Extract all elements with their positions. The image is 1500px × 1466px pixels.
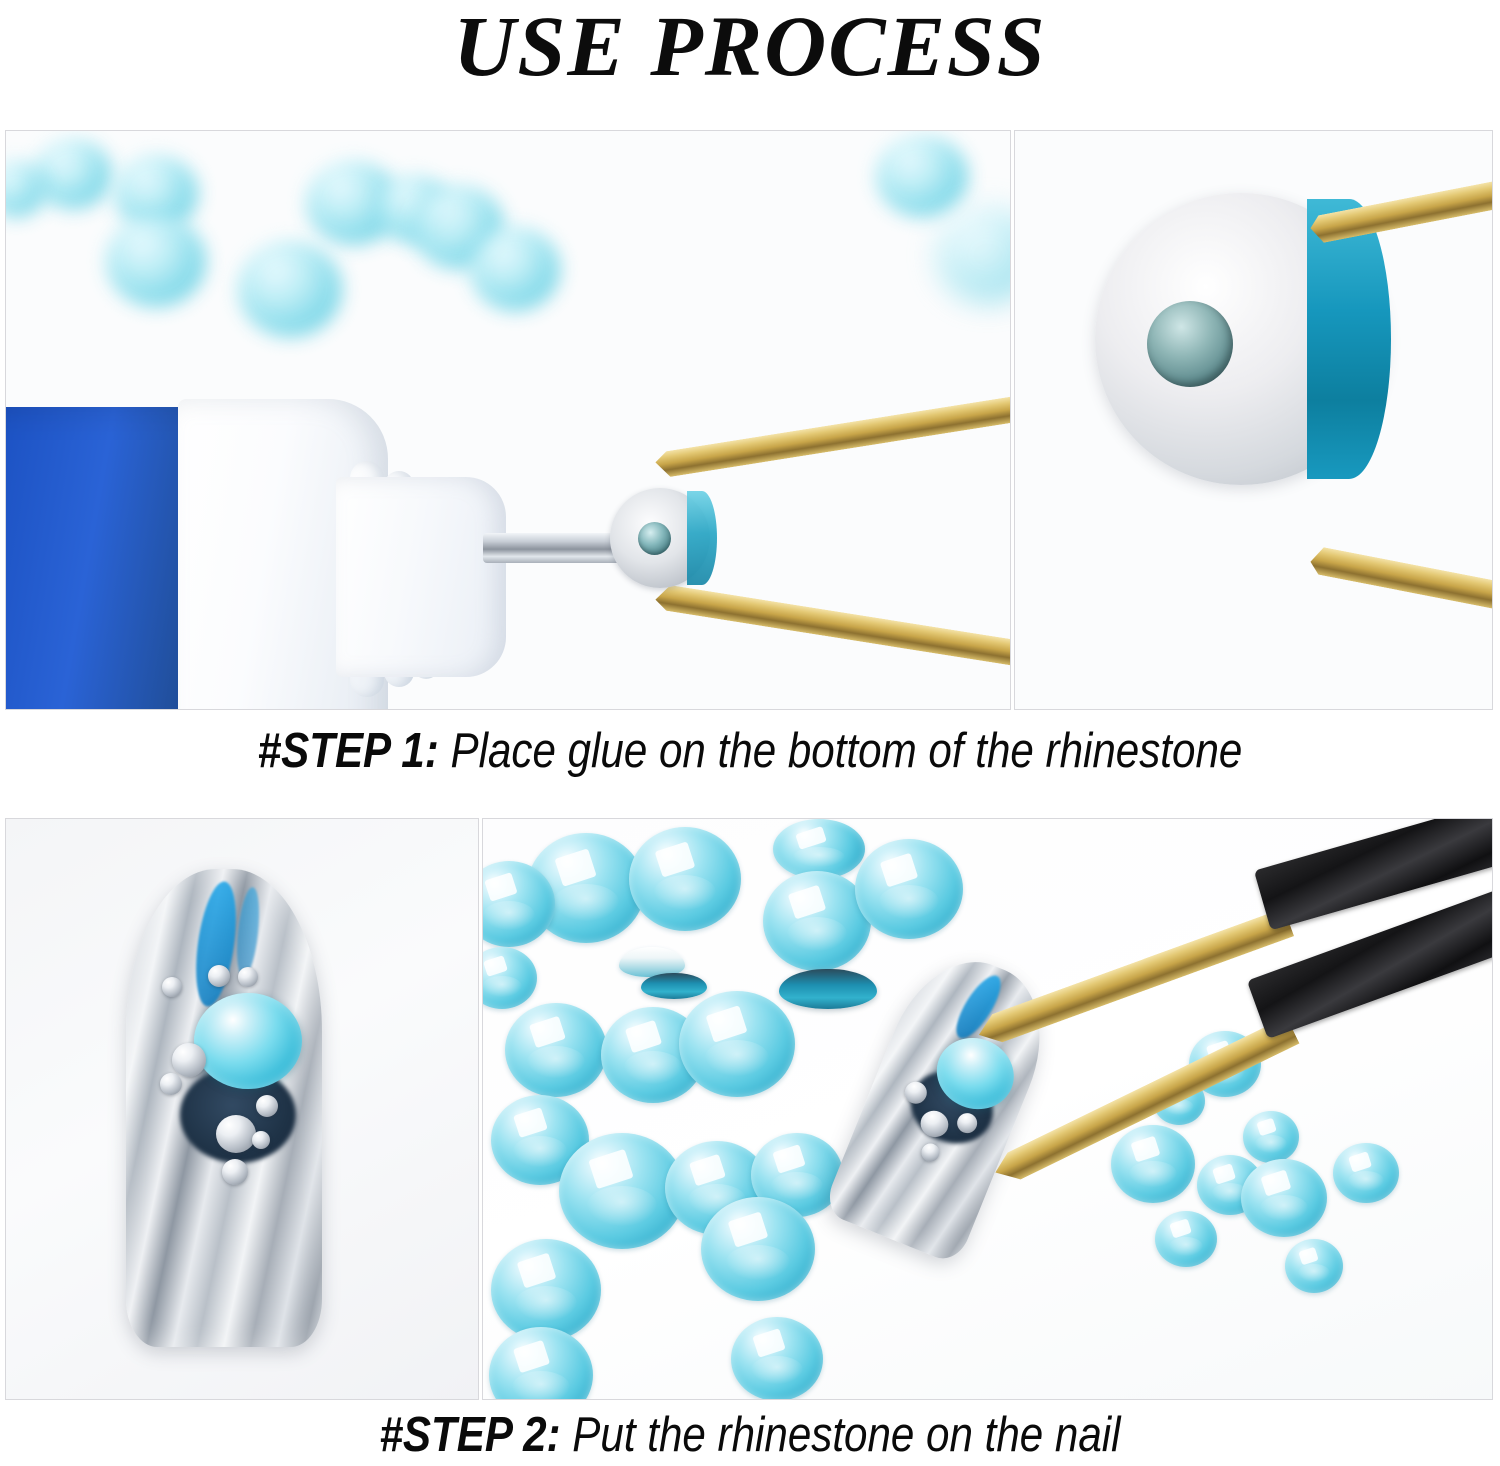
press-on-nail — [126, 869, 322, 1347]
rhinestone-side-view-dark — [779, 969, 877, 1009]
tweezer-arm-lower — [654, 583, 1011, 674]
rhinestone — [1285, 1239, 1343, 1293]
photo-scene-glue — [6, 131, 1010, 709]
rhinestone — [1111, 1125, 1195, 1203]
step-2-text: Put the rhinestone on the nail — [561, 1408, 1121, 1462]
rhinestone — [629, 827, 741, 931]
step-1-caption: #STEP 1: Place glue on the bottom of the… — [105, 722, 1395, 780]
rhinestone-side-view-dark — [641, 973, 707, 999]
nail-bead — [252, 1131, 270, 1149]
glue-applicator-needle — [483, 533, 625, 563]
nail-bead — [160, 1073, 182, 1095]
nail-bead — [238, 967, 258, 987]
rhinestone — [855, 839, 963, 939]
nail-blue-streak — [233, 886, 262, 978]
rhinestone — [1243, 1111, 1299, 1163]
nail-bead — [256, 1095, 278, 1117]
photo-scene-nail — [6, 819, 478, 1399]
nail-bead — [172, 1043, 206, 1077]
rhinestone — [1241, 1159, 1327, 1237]
blurred-rhinestone — [34, 139, 112, 209]
blurred-rhinestone — [106, 215, 206, 307]
nail-bead — [216, 1115, 256, 1153]
rhinestone — [505, 1003, 607, 1097]
tweezer-arm-upper — [974, 908, 1294, 1049]
glue-droplet-macro — [1147, 301, 1233, 387]
rhinestone — [491, 1239, 601, 1341]
nail-center-gem — [194, 993, 302, 1089]
step-2-label: #STEP 2: — [379, 1408, 560, 1462]
nail-bead — [162, 977, 182, 997]
step-1-label: #STEP 1: — [258, 724, 439, 778]
photo-scene-macro — [1015, 131, 1492, 709]
rhinestone — [1155, 1211, 1217, 1267]
rhinestone — [701, 1197, 815, 1301]
tweezer-arm-lower — [1308, 545, 1493, 622]
rhinestone — [489, 1327, 593, 1400]
glue-droplet — [638, 522, 671, 555]
nail-bead — [919, 1141, 942, 1164]
finished-nail-photo — [5, 818, 479, 1400]
nail-bead — [208, 965, 230, 987]
nail-bead — [222, 1159, 248, 1185]
rhinestone — [773, 819, 865, 879]
page-title: USE PROCESS — [0, 0, 1500, 96]
rhinestone — [731, 1317, 823, 1400]
step-2-caption: #STEP 2: Put the rhinestone on the nail — [105, 1406, 1395, 1464]
blurred-rhinestone — [470, 227, 560, 311]
tweezer-arm-upper — [654, 387, 1011, 478]
applying-rhinestone-photo — [482, 818, 1493, 1400]
rhinestone — [482, 947, 537, 1009]
rhinestone — [1333, 1143, 1399, 1203]
rhinestone-back-macro-photo — [1014, 130, 1493, 710]
nail-blue-streak — [189, 879, 242, 1009]
step-1-text: Place glue on the bottom of the rhinesto… — [439, 724, 1243, 778]
glue-applied-to-rhinestone-photo — [5, 130, 1011, 710]
blurred-rhinestone — [238, 241, 342, 337]
rhinestone — [679, 991, 795, 1097]
glue-tube-neck — [336, 477, 506, 677]
blurred-rhinestone — [876, 135, 968, 217]
rhinestone-held — [610, 488, 710, 588]
blurred-rhinestone — [936, 207, 1011, 303]
photo-scene-rhinestones — [483, 819, 1492, 1399]
